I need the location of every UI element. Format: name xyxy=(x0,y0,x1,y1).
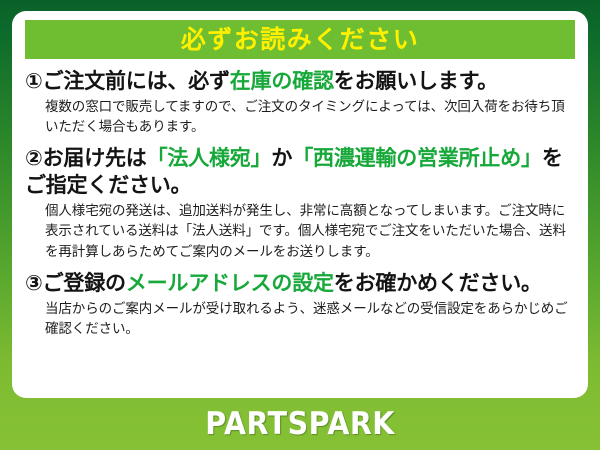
heading-text: お届け先は xyxy=(43,146,147,170)
heading-text: か xyxy=(271,146,292,170)
notice-item-detail: 個人様宅宛の発送は、追加送料が発生し、非常に高額となってしまいます。ご注文時に表… xyxy=(45,201,575,262)
page-title: 必ずお読みください xyxy=(181,27,420,52)
notice-banner: 必ずお読みください ①ご注文前には、必ず在庫の確認をお願いします。複数の窓口で販… xyxy=(0,0,600,450)
heading-text: ご登録の xyxy=(43,271,126,295)
notice-card: 必ずお読みください ①ご注文前には、必ず在庫の確認をお願いします。複数の窓口で販… xyxy=(12,11,588,398)
notice-item-heading: ③ご登録のメールアドレスの設定をお確かめください。 xyxy=(25,270,575,297)
footer-brand: PARTSPARK xyxy=(0,398,600,450)
notice-item-marker: ① xyxy=(25,69,43,93)
highlighted-text: 在庫の確認 xyxy=(230,69,334,93)
header-banner: 必ずお読みください xyxy=(25,20,575,59)
heading-text: ご注文前には、必ず xyxy=(43,69,230,93)
notice-item-detail: 複数の窓口で販売してますので、ご注文のタイミングによっては、次回入荷をお待ち頂い… xyxy=(45,97,575,138)
highlighted-text: メールアドレスの設定 xyxy=(126,271,334,295)
brand-name: PARTSPARK xyxy=(205,409,395,440)
notice-item-heading: ①ご注文前には、必ず在庫の確認をお願いします。 xyxy=(25,68,575,95)
heading-text: をお確かめください。 xyxy=(334,271,542,295)
heading-text: をお願いします。 xyxy=(334,69,498,93)
notice-item: ②お届け先は「法人様宛」か「西濃運輸の営業所止め」をご指定ください。個人様宅宛の… xyxy=(25,145,575,262)
highlighted-text: 「法人様宛」 xyxy=(147,146,272,170)
notice-item-marker: ③ xyxy=(25,271,43,295)
notice-item: ③ご登録のメールアドレスの設定をお確かめください。当店からのご案内メールが受け取… xyxy=(25,270,575,339)
notice-item: ①ご注文前には、必ず在庫の確認をお願いします。複数の窓口で販売してますので、ご注… xyxy=(25,68,575,137)
notice-item-heading: ②お届け先は「法人様宛」か「西濃運輸の営業所止め」をご指定ください。 xyxy=(25,145,575,199)
notice-item-detail: 当店からのご案内メールが受け取れるよう、迷惑メールなどの受信設定をあらかじめご確… xyxy=(45,299,575,340)
notice-list: ①ご注文前には、必ず在庫の確認をお願いします。複数の窓口で販売してますので、ご注… xyxy=(25,68,575,339)
highlighted-text: 「西濃運輸の営業所止め」 xyxy=(292,146,542,170)
notice-item-marker: ② xyxy=(25,146,43,170)
